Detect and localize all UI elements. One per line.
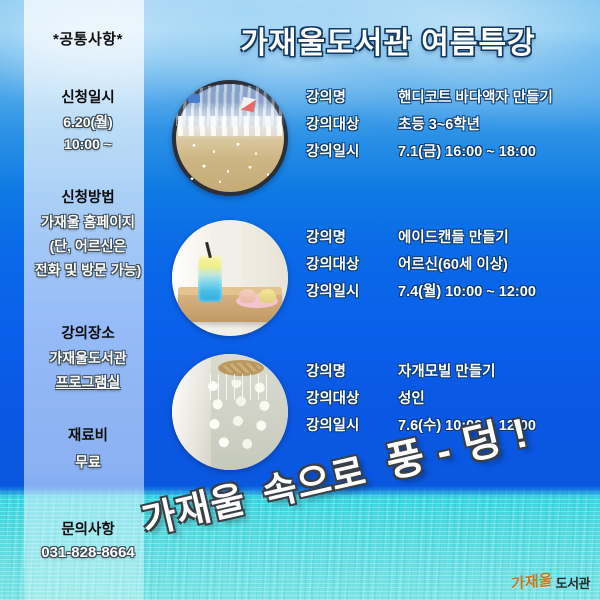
course-target-label: 강의대상: [306, 253, 359, 274]
course-target-label: 강의대상: [306, 387, 359, 408]
handicoat-sea-frame-photo: [172, 80, 288, 196]
course-name-label: 강의명: [306, 226, 346, 247]
course-datetime-label: 강의일시: [306, 414, 359, 435]
course-target-value: 어르신(60세 이상): [398, 253, 508, 274]
poster: *공통사항* 신청일시 6.20(월) 10:00 ~ 신청방법 가재울 홈페이…: [0, 0, 600, 600]
course-name-value: 자개모빌 만들기: [398, 360, 495, 381]
course-name-label: 강의명: [306, 86, 346, 107]
course-fields: 강의명 핸디코트 바다액자 만들기 강의대상 초등 3~6학년 강의일시 7.1…: [306, 86, 600, 167]
course-fields: 강의명 에이드캔들 만들기 강의대상 어르신(60세 이상) 강의일시 7.4(…: [306, 226, 600, 307]
course-name-value: 에이드캔들 만들기: [398, 226, 509, 247]
common-info-heading: *공통사항*: [0, 28, 176, 49]
mother-of-pearl-mobile-photo: [172, 354, 288, 470]
page-title: 가재울도서관 여름특강: [176, 18, 600, 62]
logo-label: 도서관: [556, 573, 590, 592]
course-target-value: 초등 3~6학년: [398, 113, 480, 134]
course-datetime-value: 7.4(월) 10:00 ~ 12:00: [398, 280, 536, 301]
library-logo: 가재울 도서관: [511, 571, 590, 592]
course-name-label: 강의명: [306, 360, 346, 381]
course-name-value: 핸디코트 바다액자 만들기: [398, 86, 553, 107]
course-datetime-value: 7.1(금) 16:00 ~ 18:00: [398, 140, 536, 161]
course-datetime-label: 강의일시: [306, 140, 359, 161]
logo-mark-text: 가재울: [511, 568, 552, 594]
course-row: 강의명 핸디코트 바다액자 만들기 강의대상 초등 3~6학년 강의일시 7.1…: [0, 78, 600, 198]
course-target-value: 성인: [398, 387, 425, 408]
course-target-label: 강의대상: [306, 113, 359, 134]
course-datetime-label: 강의일시: [306, 280, 359, 301]
ade-candle-photo: [172, 220, 288, 336]
course-row: 강의명 에이드캔들 만들기 강의대상 어르신(60세 이상) 강의일시 7.4(…: [0, 218, 600, 338]
